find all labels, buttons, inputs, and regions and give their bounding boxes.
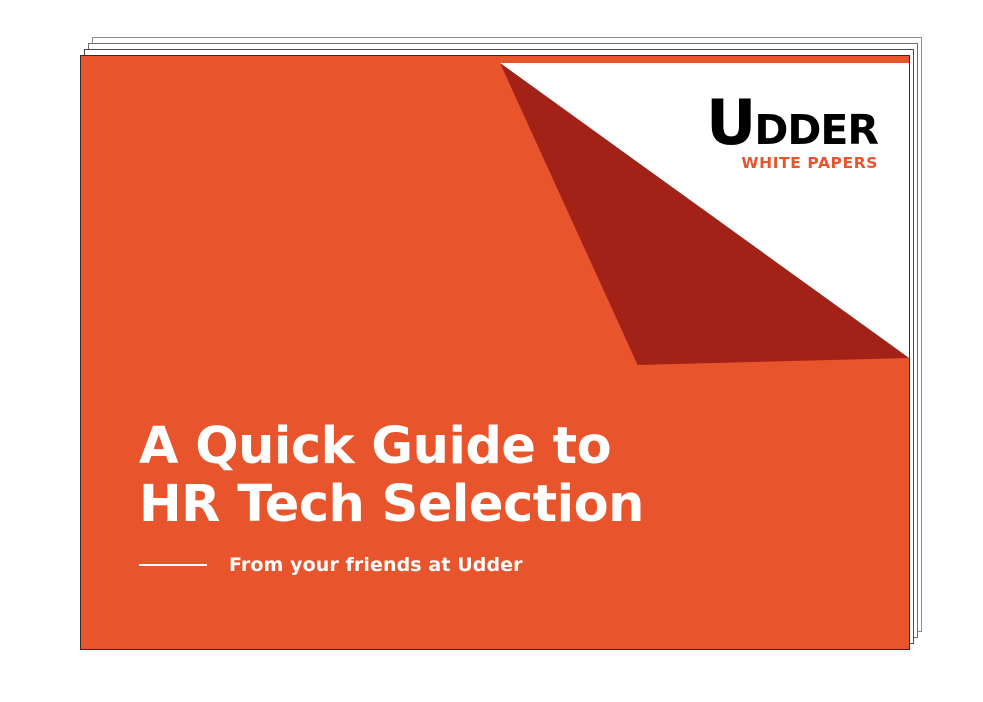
cover-byline: From your friends at Udder — [139, 554, 523, 576]
cover-title-line-1: A Quick Guide to — [139, 418, 644, 476]
logo-wordmark: UDDER — [706, 96, 878, 151]
udder-logo[interactable]: UDDER WHITE PAPERS — [706, 96, 878, 172]
white-paper-cover[interactable]: UDDER WHITE PAPERS A Quick Guide to HR T… — [80, 55, 910, 650]
cover-title: A Quick Guide to HR Tech Selection — [139, 418, 644, 533]
logo-initial-letter: U — [706, 86, 754, 159]
byline-text: From your friends at Udder — [229, 554, 523, 576]
byline-divider-rule — [139, 564, 207, 566]
screenshot-canvas: UDDER WHITE PAPERS A Quick Guide to HR T… — [0, 0, 983, 702]
logo-word-remainder: DDER — [754, 106, 878, 154]
cover-title-line-2: HR Tech Selection — [139, 476, 644, 534]
